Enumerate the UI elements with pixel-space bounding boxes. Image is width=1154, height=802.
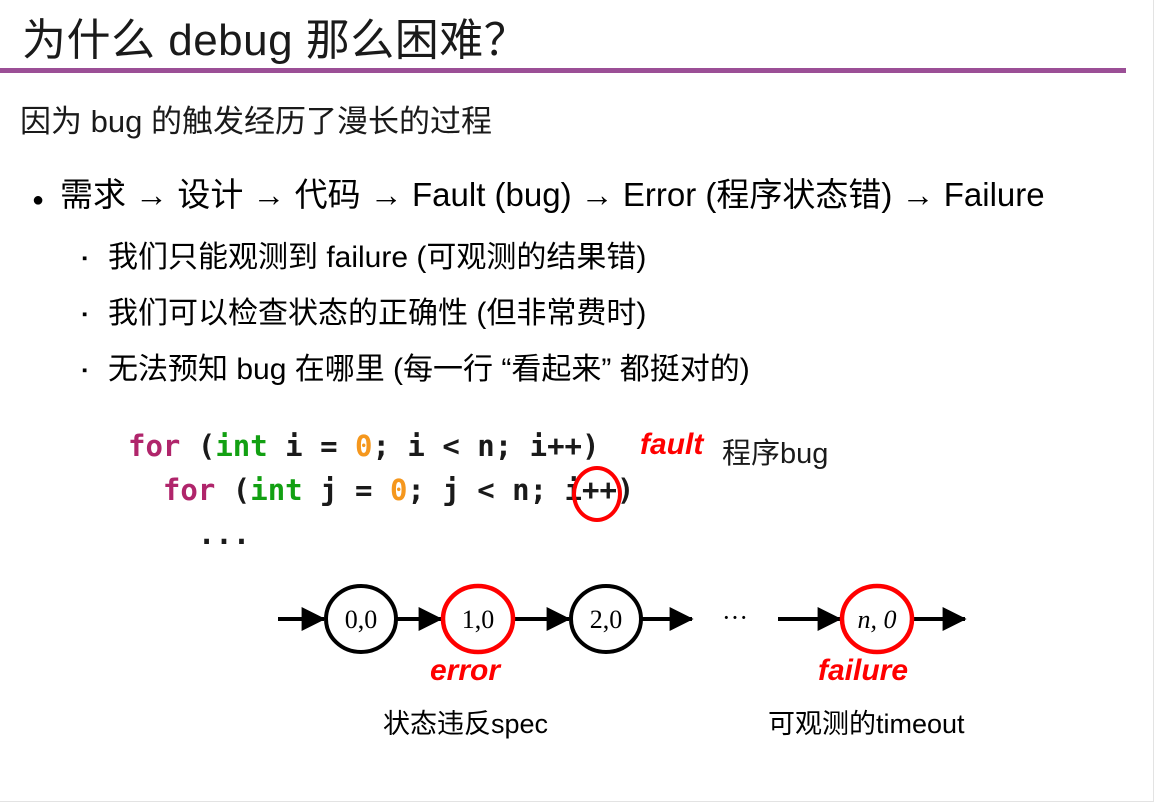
bullet-square-icon: ▪ [82, 251, 108, 266]
code-type-int: int [250, 473, 302, 507]
code-keyword-for: for [128, 429, 180, 463]
code-punct: ( [215, 473, 250, 507]
failure-caption: 可观测的timeout [768, 702, 965, 741]
code-text: i = [268, 429, 355, 463]
bullet-level2-check-state: ▪ 我们可以检查状态的正确性 (但非常费时) [82, 288, 646, 332]
diagram-ellipsis: ··· [722, 603, 748, 632]
bullet-level2-observe-failure: ▪ 我们只能观测到 failure (可观测的结果错) [82, 232, 646, 276]
state-node-label: n, 0 [858, 605, 897, 634]
fault-annotation-label: fault [640, 428, 703, 462]
code-text: j = [303, 473, 390, 507]
code-type-int: int [215, 429, 267, 463]
error-caption: 状态违反spec [383, 702, 548, 741]
state-node-label: 2,0 [590, 605, 623, 634]
code-indent [128, 473, 163, 507]
bullet-square-icon: ▪ [82, 363, 108, 378]
bullet-level1: ● 需求 → 设计 → 代码 → Fault (bug) → Error (程序… [32, 168, 1045, 216]
state-diagram: 0,0 1,0 2,0 ··· n, 0 [0, 570, 1154, 680]
bug-highlight-ellipse [572, 466, 622, 522]
code-block: for (int i = 0; i < n; i++) for (int j =… [128, 424, 634, 556]
title-divider [0, 68, 1126, 73]
lead-paragraph: 因为 bug 的触发经历了漫长的过程 [20, 96, 492, 141]
code-number: 0 [355, 429, 372, 463]
code-ellipsis: ... [128, 517, 250, 551]
state-node-label: 0,0 [345, 605, 378, 634]
code-keyword-for: for [163, 473, 215, 507]
bullet-dot-icon: ● [32, 190, 60, 210]
code-punct: ( [180, 429, 215, 463]
bullet-level2-label: 我们只能观测到 failure (可观测的结果错) [108, 232, 646, 276]
code-number: 0 [390, 473, 407, 507]
state-node-label: 1,0 [462, 605, 495, 634]
fault-annotation-note: 程序bug [722, 430, 828, 472]
bullet-level2-unknown-bug: ▪ 无法预知 bug 在哪里 (每一行 “看起来” 都挺对的) [82, 344, 750, 388]
page-title: 为什么 debug 那么困难？ [22, 4, 528, 68]
code-text: ; i < n; i++) [372, 429, 599, 463]
slide-root: 为什么 debug 那么困难？ 因为 bug 的触发经历了漫长的过程 ● 需求 … [0, 0, 1154, 802]
failure-annotation-label: failure [818, 654, 908, 688]
bullet-level2-label: 无法预知 bug 在哪里 (每一行 “看起来” 都挺对的) [108, 344, 750, 388]
bullet-level1-label: 需求 → 设计 → 代码 → Fault (bug) → Error (程序状态… [60, 168, 1045, 216]
bullet-level2-label: 我们可以检查状态的正确性 (但非常费时) [108, 288, 646, 332]
bullet-square-icon: ▪ [82, 307, 108, 322]
error-annotation-label: error [430, 654, 500, 688]
